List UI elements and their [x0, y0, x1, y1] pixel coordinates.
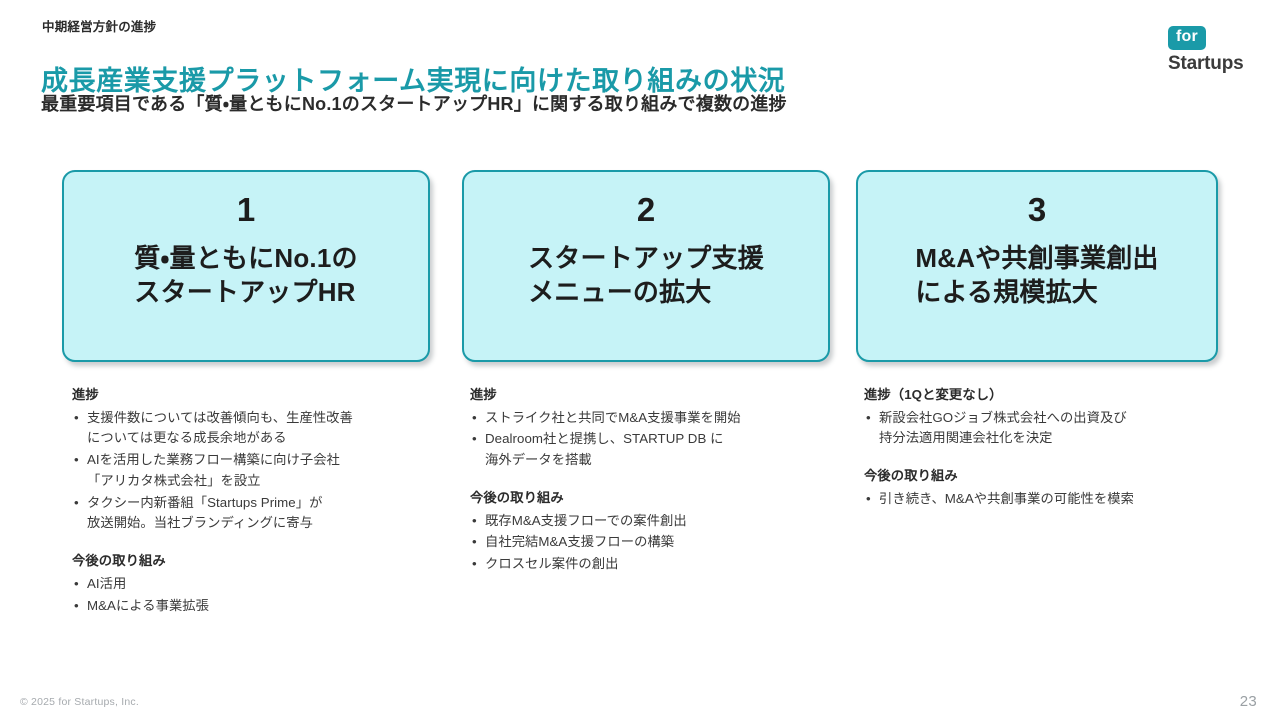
bullet-dot-icon: • [74, 493, 79, 514]
for-startups-logo: for Startups [1168, 26, 1254, 73]
logo-startups-text: Startups [1168, 54, 1254, 73]
pillar-card-1: 1 質・量ともにNo.1の スタートアップHR [62, 170, 430, 362]
pillar-card-number: 2 [637, 193, 655, 226]
bullet-dot-icon: • [472, 554, 477, 575]
list-item: •タクシー内新番組「Startups Prime」が 放送開始。当社ブランディン… [72, 493, 432, 534]
bullet-dot-icon: • [74, 408, 79, 429]
list-item: •AIを活用した業務フロー構築に向け子会社 「アリカタ株式会社」を設立 [72, 450, 432, 491]
list-item-text: ストライク社と共同でM&A支援事業を開始 [485, 410, 741, 425]
list-item: •支援件数については改善傾向も、生産性改善 については更なる成長余地がある [72, 408, 432, 449]
pillar-card-label: スタートアップ支援 メニューの拡大 [528, 241, 764, 310]
list-item-text: クロスセル案件の創出 [485, 556, 618, 571]
detail-section: 今後の取り組み •既存M&A支援フローでの案件創出 •自社完結M&A支援フローの… [470, 488, 830, 575]
list-item-text: タクシー内新番組「Startups Prime」が 放送開始。当社ブランディング… [87, 495, 322, 531]
pillar-card-2: 2 スタートアップ支援 メニューの拡大 [462, 170, 830, 362]
list-item: •新設会社GOジョブ株式会社への出資及び 持分法適用関連会社化を決定 [864, 408, 1224, 449]
bullet-list: •ストライク社と共同でM&A支援事業を開始 •Dealroom社と提携し、STA… [470, 408, 830, 471]
pillar-card-3: 3 M&Aや共創事業創出 による規模拡大 [856, 170, 1218, 362]
detail-column-1: 進捗 •支援件数については改善傾向も、生産性改善 については更なる成長余地がある… [72, 385, 432, 617]
list-item: •自社完結M&A支援フローの構築 [470, 532, 830, 553]
bullet-dot-icon: • [472, 511, 477, 532]
list-item: •ストライク社と共同でM&A支援事業を開始 [470, 408, 830, 429]
bullet-list: •AI活用 •M&Aによる事業拡張 [72, 574, 432, 616]
section-heading: 今後の取り組み [864, 466, 1224, 487]
list-item-text: 既存M&A支援フローでの案件創出 [485, 513, 687, 528]
section-heading: 進捗（1Qと変更なし） [864, 385, 1224, 406]
list-item-text: 引き続き、M&Aや共創事業の可能性を模索 [879, 491, 1134, 506]
section-heading: 進捗 [470, 385, 830, 406]
list-item: •引き続き、M&Aや共創事業の可能性を模索 [864, 489, 1224, 510]
list-item: •クロスセル案件の創出 [470, 554, 830, 575]
list-item-text: 支援件数については改善傾向も、生産性改善 については更なる成長余地がある [87, 410, 353, 446]
pillar-card-number: 1 [237, 193, 255, 226]
list-item-text: Dealroom社と提携し、STARTUP DB に 海外データを搭載 [485, 431, 723, 467]
bullet-list: •新設会社GOジョブ株式会社への出資及び 持分法適用関連会社化を決定 [864, 408, 1224, 449]
bullet-list: •既存M&A支援フローでの案件創出 •自社完結M&A支援フローの構築 •クロスセ… [470, 511, 830, 575]
list-item-text: M&Aによる事業拡張 [87, 598, 209, 613]
bullet-dot-icon: • [74, 574, 79, 595]
list-item-text: AIを活用した業務フロー構築に向け子会社 「アリカタ株式会社」を設立 [87, 452, 340, 488]
bullet-dot-icon: • [74, 450, 79, 471]
pillar-card-label: 質・量ともにNo.1の スタートアップHR [134, 241, 357, 310]
list-item-text: 新設会社GOジョブ株式会社への出資及び 持分法適用関連会社化を決定 [879, 410, 1127, 446]
page-number: 23 [1240, 693, 1257, 710]
list-item: •M&Aによる事業拡張 [72, 596, 432, 617]
section-heading: 今後の取り組み [470, 488, 830, 509]
detail-section: 今後の取り組み •引き続き、M&Aや共創事業の可能性を模索 [864, 466, 1224, 509]
detail-section: 今後の取り組み •AI活用 •M&Aによる事業拡張 [72, 551, 432, 616]
list-item: •AI活用 [72, 574, 432, 595]
slide: 中期経営方針の進捗 成長産業支援プラットフォーム実現に向けた取り組みの状況 最重… [0, 0, 1280, 720]
list-item-text: 自社完結M&A支援フローの構築 [485, 534, 674, 549]
bullet-dot-icon: • [472, 532, 477, 553]
detail-section: 進捗（1Qと変更なし） •新設会社GOジョブ株式会社への出資及び 持分法適用関連… [864, 385, 1224, 449]
section-heading: 進捗 [72, 385, 432, 406]
pillar-card-number: 3 [1028, 193, 1046, 226]
bullet-list: •支援件数については改善傾向も、生産性改善 については更なる成長余地がある •A… [72, 408, 432, 534]
bullet-dot-icon: • [74, 596, 79, 617]
bullet-dot-icon: • [472, 408, 477, 429]
list-item: •Dealroom社と提携し、STARTUP DB に 海外データを搭載 [470, 429, 830, 470]
slide-subtitle: 最重要項目である「質・量ともにNo.1のスタートアップHR」に関する取り組みで複… [41, 90, 787, 116]
logo-for-badge: for [1168, 26, 1206, 50]
detail-section: 進捗 •支援件数については改善傾向も、生産性改善 については更なる成長余地がある… [72, 385, 432, 534]
detail-column-3: 進捗（1Qと変更なし） •新設会社GOジョブ株式会社への出資及び 持分法適用関連… [864, 385, 1224, 511]
detail-section: 進捗 •ストライク社と共同でM&A支援事業を開始 •Dealroom社と提携し、… [470, 385, 830, 471]
bullet-dot-icon: • [866, 489, 871, 510]
bullet-dot-icon: • [866, 408, 871, 429]
bullet-dot-icon: • [472, 429, 477, 450]
pillar-card-label: M&Aや共創事業創出 による規模拡大 [915, 241, 1158, 310]
pillar-card-row: 1 質・量ともにNo.1の スタートアップHR 2 スタートアップ支援 メニュー… [0, 170, 1280, 364]
detail-column-2: 進捗 •ストライク社と共同でM&A支援事業を開始 •Dealroom社と提携し、… [470, 385, 830, 576]
list-item-text: AI活用 [87, 576, 126, 591]
section-heading: 今後の取り組み [72, 551, 432, 572]
copyright-text: © 2025 for Startups, Inc. [20, 696, 139, 708]
eyebrow-label: 中期経営方針の進捗 [42, 16, 156, 35]
list-item: •既存M&A支援フローでの案件創出 [470, 511, 830, 532]
bullet-list: •引き続き、M&Aや共創事業の可能性を模索 [864, 489, 1224, 510]
